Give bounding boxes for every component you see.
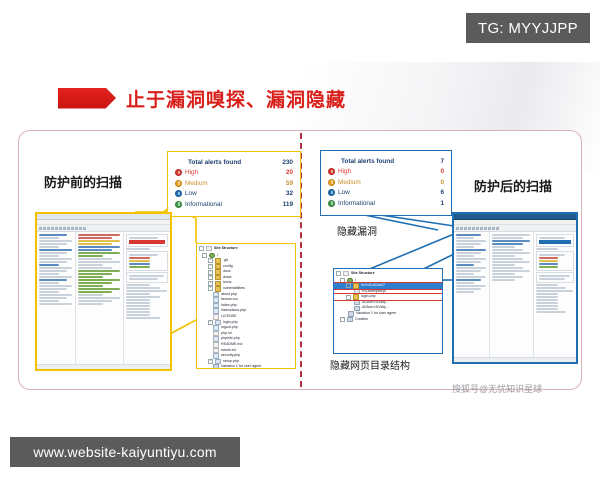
expand-icon[interactable]: - (340, 278, 345, 283)
file-icon (213, 353, 219, 359)
alert-total-label: Total alerts found (328, 158, 440, 165)
structure-icon (343, 271, 349, 277)
caption-after-scan: 防护后的扫描 (474, 176, 552, 195)
expand-icon[interactable]: + (208, 281, 213, 286)
scanner-window-after (452, 212, 578, 364)
severity-informational-icon (175, 201, 182, 208)
alert-value-medium: 0 (440, 179, 444, 186)
author-watermark: 搜狐号@无忧知识星球 (452, 382, 542, 395)
alert-label-informational: Informational (338, 200, 375, 207)
alert-value-informational: 119 (283, 201, 293, 208)
alert-summary-after: Total alerts found 7 High 0 Medium 0 Low… (320, 150, 452, 216)
tree-node-list: +.git +config +docs +dvwa +icons +vulner… (197, 258, 295, 369)
alert-row-medium: Medium 59 (175, 178, 293, 189)
file-icon (213, 314, 219, 320)
expand-icon[interactable]: + (208, 286, 213, 291)
expand-icon[interactable]: + (208, 359, 213, 364)
alert-value-informational: 1 (440, 200, 444, 207)
tree-title-row: - Site Structure (197, 244, 295, 253)
expand-icon[interactable]: - (346, 283, 351, 288)
alert-total-label: Total alerts found (175, 159, 282, 166)
severity-high-icon (175, 169, 182, 176)
alert-detail-pane (124, 232, 170, 366)
alert-value-high: 20 (286, 169, 293, 176)
alert-value-medium: 59 (286, 180, 293, 187)
expand-icon[interactable]: - (202, 253, 207, 258)
expand-icon[interactable]: + (208, 270, 213, 275)
variation-icon (348, 311, 354, 317)
tree-title-row: - Site Structure (334, 269, 442, 278)
caption-hidden-vulnerability: 隐藏漏洞 (337, 223, 377, 238)
site-structure-after: - Site Structure - / - 0vYvGuICek07 RU3k… (333, 268, 443, 354)
page-title: 止于漏洞嗅探、漏洞隐藏 (126, 85, 346, 112)
alert-row-low: Low 32 (175, 189, 293, 200)
slide-title-row: 止于漏洞嗅探、漏洞隐藏 (58, 84, 346, 112)
telegram-badge: TG: MYYJJPP (466, 13, 590, 43)
alert-value-low: 32 (286, 190, 293, 197)
variation-icon (213, 364, 219, 369)
alert-row-low: Low 6 (328, 188, 444, 199)
alert-value-low: 6 (440, 189, 444, 196)
window-toolbar (454, 225, 576, 232)
window-statusbar (37, 364, 170, 369)
folder-icon (215, 258, 221, 264)
expand-icon[interactable]: - (336, 271, 341, 276)
alerts-list-pane (490, 232, 534, 359)
alert-label-low: Low (185, 190, 197, 197)
window-statusbar (454, 357, 576, 362)
folder-icon (353, 283, 359, 289)
alert-row-high: High 0 (328, 167, 444, 178)
alert-row-informational: Informational 119 (175, 199, 293, 210)
alert-label-medium: Medium (338, 179, 361, 186)
tree-title: Site Structure (351, 271, 375, 275)
file-icon (213, 325, 219, 331)
scanner-window-before (35, 212, 172, 371)
window-toolbar (37, 225, 170, 232)
alert-total-row: Total alerts found 7 (328, 156, 444, 167)
tree-node[interactable]: Variation 1 for user agent (197, 364, 295, 369)
expand-icon[interactable]: + (208, 258, 213, 263)
severity-informational-icon (328, 200, 335, 207)
severity-low-icon (328, 189, 335, 196)
window-body (454, 232, 576, 359)
cookies-icon (347, 317, 353, 323)
file-icon (213, 342, 219, 348)
expand-icon[interactable]: + (208, 264, 213, 269)
alert-label-high: High (338, 168, 351, 175)
window-body (37, 232, 170, 366)
tree-node-label: Cookies (355, 317, 368, 323)
alert-row-informational: Informational 1 (328, 198, 444, 209)
expand-icon[interactable]: + (208, 320, 213, 325)
site-structure-before: - Site Structure - / +.git +config +docs… (196, 243, 296, 369)
caption-hidden-tree: 隐藏网页目录结构 (330, 357, 410, 372)
severity-high-icon (328, 168, 335, 175)
expand-icon[interactable]: + (340, 317, 345, 322)
severity-medium-icon (175, 180, 182, 187)
severity-low-icon (175, 190, 182, 197)
expand-icon[interactable]: - (346, 295, 351, 300)
structure-icon (206, 246, 212, 252)
alert-label-low: Low (338, 189, 350, 196)
folder-icon (215, 275, 221, 281)
caption-before-scan: 防护前的扫描 (44, 172, 122, 191)
alert-label-high: High (185, 169, 198, 176)
alert-detail-pane (534, 232, 576, 359)
severity-medium-icon (328, 179, 335, 186)
alert-value-high: 0 (440, 168, 444, 175)
scan-tree-pane (454, 232, 490, 359)
alert-total-row: Total alerts found 230 (175, 157, 293, 168)
expand-icon[interactable]: + (208, 275, 213, 280)
expand-icon[interactable]: - (199, 246, 204, 251)
scan-tree-pane (37, 232, 76, 366)
variation-icon (354, 300, 360, 306)
alert-label-informational: Informational (185, 201, 222, 208)
alert-total-value: 230 (282, 159, 293, 166)
alert-summary-before: Total alerts found 230 High 20 Medium 59… (167, 151, 301, 217)
alert-label-medium: Medium (185, 180, 208, 187)
alert-total-value: 7 (440, 158, 444, 165)
site-watermark-badge: www.website-kaiyuntiyu.com (10, 437, 240, 467)
tree-node-label: Variation 1 for user agent (221, 364, 261, 369)
tree-node[interactable]: +Cookies (334, 317, 442, 323)
alert-row-high: High 20 (175, 168, 293, 179)
alerts-list-pane (76, 232, 124, 366)
tree-title: Site Structure (214, 246, 238, 250)
file-icon (213, 297, 219, 303)
slide-canvas: TG: MYYJJPP 止于漏洞嗅探、漏洞隐藏 防护前的扫描 防护后的扫描 隐藏… (0, 0, 600, 480)
chevron-marker-icon (58, 88, 116, 109)
alert-row-medium: Medium 0 (328, 177, 444, 188)
